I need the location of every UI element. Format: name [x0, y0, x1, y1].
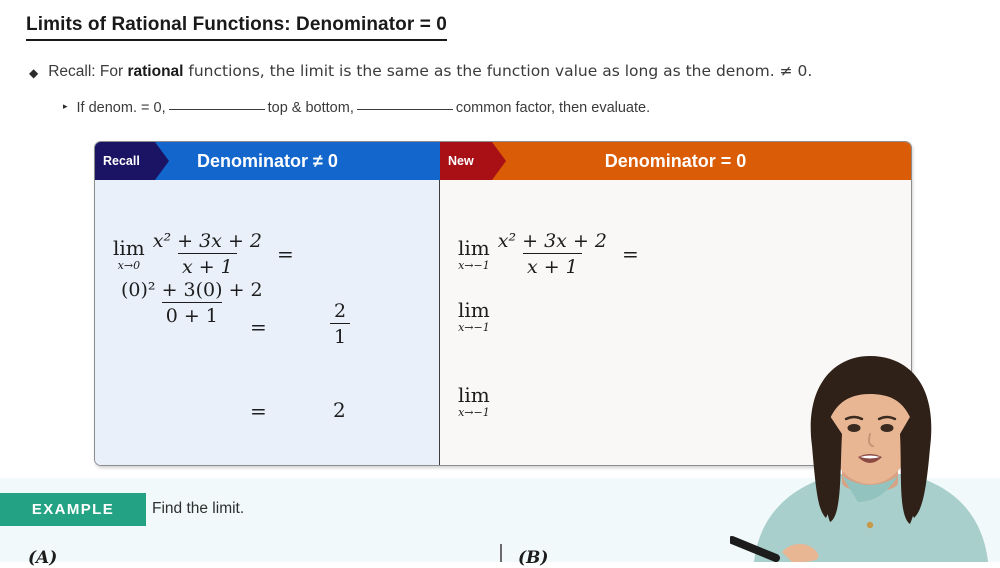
sub-part-2: top & bottom, — [268, 100, 354, 116]
recall-ribbon-badge: Recall — [95, 142, 169, 180]
part-b-label: (B) — [518, 548, 548, 568]
table-body-row: lim x→0 x² + 3x + 2x + 1=(0)² + 3(0) + 2… — [95, 180, 911, 465]
part-a-label: (A) — [28, 548, 57, 568]
left-equals-1: = — [277, 242, 294, 266]
limit-operator: lim x→0 — [113, 238, 145, 271]
table-header-row: Recall Denominator ≠ 0 New Denominator =… — [95, 142, 911, 180]
left-rhs-fraction: (0)² + 3(0) + 20 + 1 — [117, 279, 267, 328]
bullet-recall-prefix: Recall: For — [48, 63, 127, 80]
right-equation-row-1: lim x→−1 x² + 3x + 2x + 1= — [458, 230, 646, 279]
right-equals-1: = — [622, 242, 639, 266]
new-ribbon-badge: New — [440, 142, 506, 180]
fill-blank-1[interactable] — [169, 96, 265, 110]
table-cell-denominator-nonzero: lim x→0 x² + 3x + 2x + 1=(0)² + 3(0) + 2… — [95, 180, 440, 465]
left-equals-3: = — [250, 399, 267, 423]
table-header-left-label: Denominator ≠ 0 — [197, 151, 338, 172]
left-result-fraction: 21 — [330, 300, 350, 349]
sub-part-1: If denom. = 0, — [77, 100, 166, 116]
table-header-left: Recall Denominator ≠ 0 — [95, 142, 440, 180]
left-value-row-3: 2 — [333, 398, 346, 422]
left-value-row-2: 21 — [326, 300, 354, 349]
table-cell-denominator-zero: lim x→−1 x² + 3x + 2x + 1= lim x→−1 lim … — [440, 180, 911, 465]
right-equation-row-3: lim x→−1 — [458, 385, 490, 418]
bullet-recall-suffix: functions, the limit is the same as the … — [183, 62, 812, 80]
example-badge: EXAMPLE — [0, 493, 146, 526]
table-header-right-label: Denominator = 0 — [605, 151, 747, 172]
bullet-if-denom: ▸ If denom. = 0,top & bottom,common fact… — [63, 96, 650, 116]
sub-part-3: common factor, then evaluate. — [456, 100, 650, 116]
bullet-recall-bold: rational — [127, 63, 183, 80]
diamond-bullet-icon: ◆ — [29, 67, 38, 79]
left-equals-2: = — [250, 315, 267, 339]
comparison-table: Recall Denominator ≠ 0 New Denominator =… — [94, 141, 912, 466]
parts-divider — [500, 544, 502, 562]
limit-operator: lim x→−1 — [458, 385, 490, 418]
page-title: Limits of Rational Functions: Denominato… — [26, 14, 447, 41]
bullet-recall: ◆ Recall: For rational functions, the li… — [29, 62, 812, 81]
bullet-if-denom-text: If denom. = 0,top & bottom,common factor… — [77, 96, 651, 116]
fill-blank-2[interactable] — [357, 96, 453, 110]
left-lhs-fraction: x² + 3x + 2x + 1 — [149, 230, 266, 279]
bullet-recall-text: Recall: For rational functions, the limi… — [48, 62, 812, 81]
left-equation-row-1: lim x→0 x² + 3x + 2x + 1=(0)² + 3(0) + 2… — [113, 230, 439, 328]
right-lhs-fraction: x² + 3x + 2x + 1 — [494, 230, 611, 279]
limit-operator: lim x→−1 — [458, 300, 490, 333]
example-instruction: Find the limit. — [152, 500, 244, 518]
right-equation-row-2: lim x→−1 — [458, 300, 490, 333]
table-header-right: New Denominator = 0 — [440, 142, 911, 180]
limit-operator: lim x→−1 — [458, 238, 490, 271]
triangle-bullet-icon: ▸ — [63, 102, 68, 111]
